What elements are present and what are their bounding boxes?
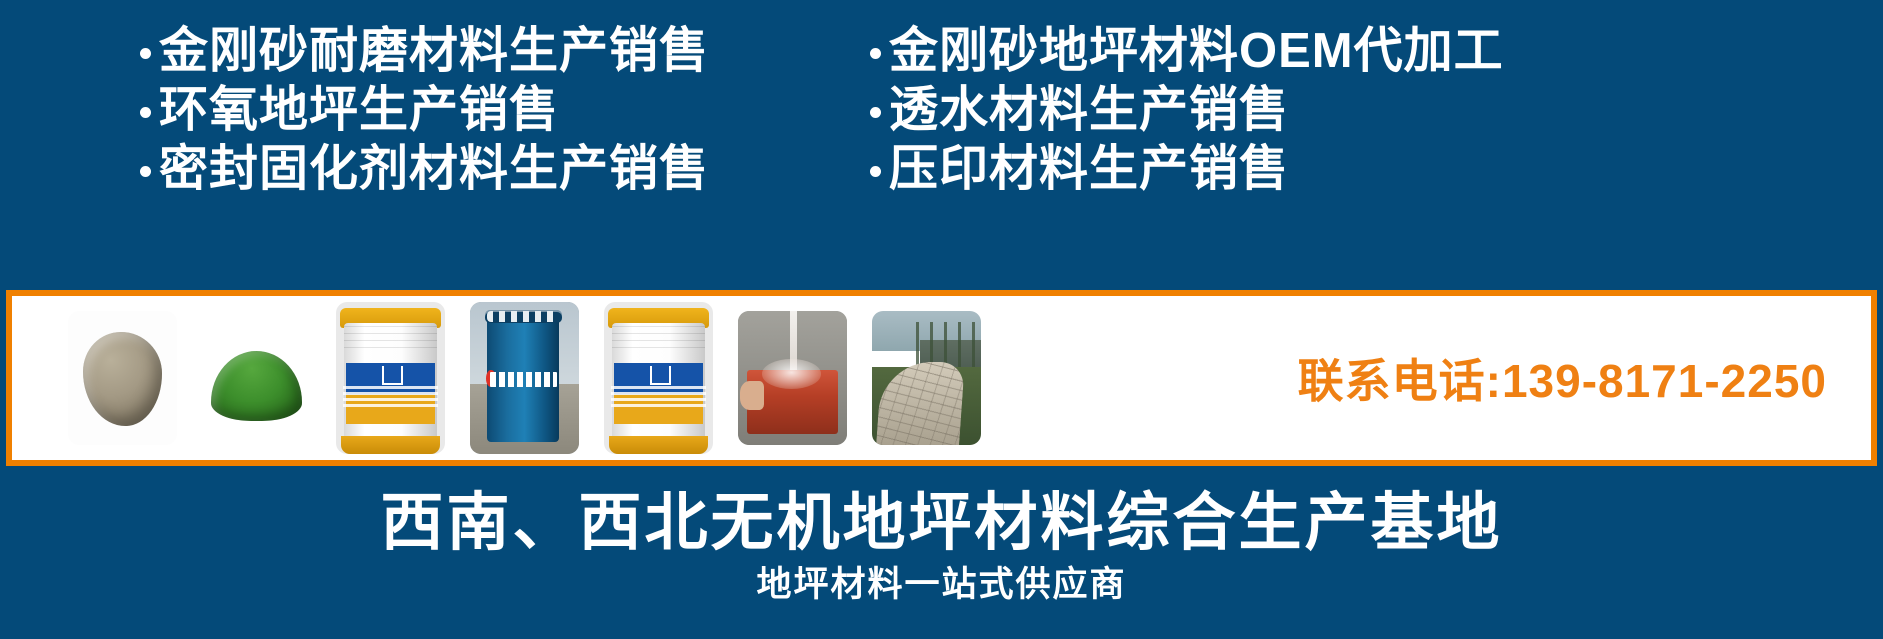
bullet-dot-icon [140, 107, 151, 118]
green-powder-image [202, 311, 311, 445]
product-strip: 联系电话:139-8171-2250 [6, 290, 1877, 466]
bucket-rings-icon [612, 326, 706, 350]
page-title: 西南、西北无机地坪材料综合生产基地 [0, 472, 1883, 563]
drum-brand-text-icon [490, 372, 558, 387]
service-item: 金刚砂地坪材料OEM代加工 [870, 24, 1870, 79]
bucket-rings-icon [344, 326, 438, 350]
white-bucket-photo [336, 302, 445, 454]
grey-powder-image [68, 311, 177, 445]
service-label: 金刚砂耐磨材料生产销售 [159, 24, 709, 79]
service-label: 密封固化剂材料生产销售 [159, 142, 709, 197]
paved-path-photo [872, 311, 981, 445]
bullet-dot-icon [870, 166, 881, 177]
services-right-column: 金刚砂地坪材料OEM代加工 透水材料生产销售 压印材料生产销售 [870, 24, 1870, 201]
bullet-dot-icon [870, 107, 881, 118]
services-section: 金刚砂耐磨材料生产销售 环氧地坪生产销售 密封固化剂材料生产销售 金刚砂地坪材料… [0, 24, 1883, 234]
advertisement-banner: 金刚砂耐磨材料生产销售 环氧地坪生产销售 密封固化剂材料生产销售 金刚砂地坪材料… [0, 0, 1883, 639]
bucket-label-text-icon [343, 386, 439, 410]
service-item: 透水材料生产销售 [870, 83, 1870, 138]
service-item: 环氧地坪生产销售 [140, 83, 860, 138]
service-item: 压印材料生产销售 [870, 142, 1870, 197]
service-label: 环氧地坪生产销售 [159, 83, 559, 138]
contact-phone[interactable]: 联系电话:139-8171-2250 [1298, 345, 1871, 411]
bullet-dot-icon [140, 48, 151, 59]
service-label: 透水材料生产销售 [889, 83, 1289, 138]
bucket-base-icon [341, 436, 439, 454]
grey-powder-photo [68, 311, 177, 445]
services-left-column: 金刚砂耐磨材料生产销售 环氧地坪生产销售 密封固化剂材料生产销售 [140, 24, 860, 201]
hand-icon [740, 381, 764, 410]
bucket-label-text-icon [611, 386, 707, 410]
bullet-dot-icon [140, 166, 151, 177]
drum-rim-dots-icon [487, 311, 559, 322]
product-photo-list [12, 296, 981, 460]
service-item: 金刚砂耐磨材料生产销售 [140, 24, 860, 79]
service-label: 金刚砂地坪材料OEM代加工 [889, 24, 1504, 79]
blue-drum-photo [470, 302, 579, 454]
service-item: 密封固化剂材料生产销售 [140, 142, 860, 197]
service-label: 压印材料生产销售 [889, 142, 1289, 197]
white-bucket-photo [604, 302, 713, 454]
red-aggregate-photo [738, 311, 847, 445]
water-splash-icon [762, 359, 821, 388]
bullet-dot-icon [870, 48, 881, 59]
bucket-base-icon [609, 436, 707, 454]
green-powder-photo [202, 311, 311, 445]
page-subtitle: 地坪材料一站式供应商 [0, 556, 1883, 607]
